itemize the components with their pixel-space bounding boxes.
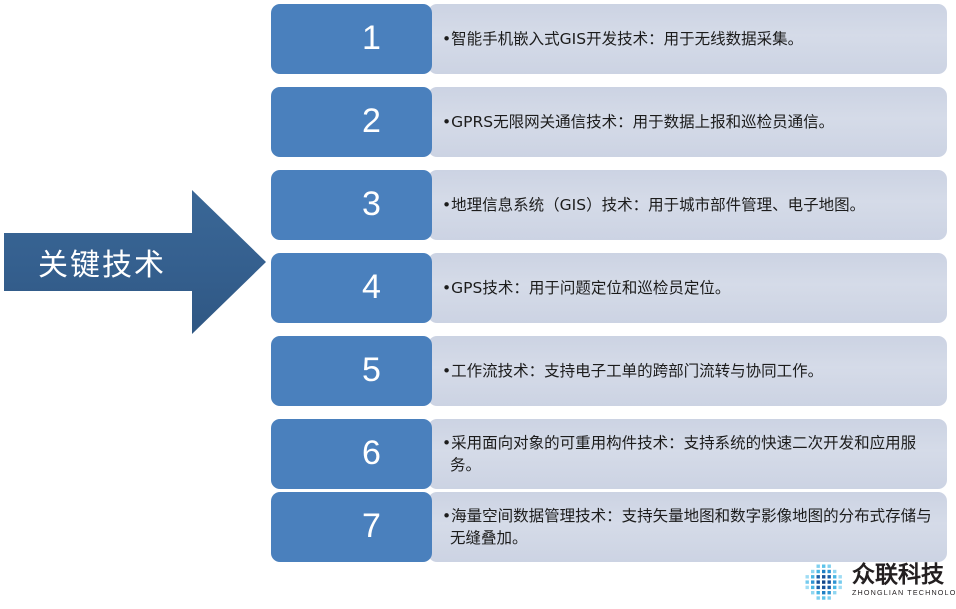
item-number: 4: [362, 270, 381, 304]
item-number: 3: [362, 187, 381, 221]
item-text: •GPS技术：用于问题定位和巡检员定位。: [428, 277, 740, 299]
item-number-badge: 7: [271, 492, 432, 562]
item-number-badge: 5: [271, 336, 432, 406]
arrow-label: 关键技术: [4, 188, 200, 336]
item-text: •GPRS无限网关通信技术：用于数据上报和巡检员通信。: [428, 111, 844, 133]
item-text: •智能手机嵌入式GIS开发技术：用于无线数据采集。: [428, 28, 813, 50]
item-number: 6: [362, 436, 381, 470]
logo-wordmark: 众联科技 ZHONGLIAN TECHNOLOGY: [852, 562, 948, 604]
item-text: •工作流技术：支持电子工单的跨部门流转与协同工作。: [428, 360, 833, 382]
item-text-panel: •采用面向对象的可重用构件技术：支持系统的快速二次开发和应用服务。: [428, 419, 947, 489]
item-text-panel: •GPRS无限网关通信技术：用于数据上报和巡检员通信。: [428, 87, 947, 157]
list-item[interactable]: 4 •GPS技术：用于问题定位和巡检员定位。: [271, 253, 947, 323]
item-number: 1: [362, 21, 381, 55]
item-number: 5: [362, 353, 381, 387]
item-text-panel: •工作流技术：支持电子工单的跨部门流转与协同工作。: [428, 336, 947, 406]
numbered-list: 1 •智能手机嵌入式GIS开发技术：用于无线数据采集。 2 •GPRS无限网关通…: [271, 4, 947, 566]
item-text-panel: •GPS技术：用于问题定位和巡检员定位。: [428, 253, 947, 323]
item-text: •地理信息系统（GIS）技术：用于城市部件管理、电子地图。: [428, 194, 875, 216]
item-text-panel: •海量空间数据管理技术：支持矢量地图和数字影像地图的分布式存储与无缝叠加。: [428, 492, 947, 562]
item-text-panel: •地理信息系统（GIS）技术：用于城市部件管理、电子地图。: [428, 170, 947, 240]
slide-canvas: 关键技术 1 •智能手机嵌入式GIS开发技术：用于无线数据采集。 2 •GPRS…: [0, 0, 956, 609]
list-item[interactable]: 5 •工作流技术：支持电子工单的跨部门流转与协同工作。: [271, 336, 947, 406]
item-number-badge: 6: [271, 419, 432, 489]
item-number-badge: 4: [271, 253, 432, 323]
item-text-panel: •智能手机嵌入式GIS开发技术：用于无线数据采集。: [428, 4, 947, 74]
item-text: •海量空间数据管理技术：支持矢量地图和数字影像地图的分布式存储与无缝叠加。: [428, 505, 947, 550]
logo-name-en: ZHONGLIAN TECHNOLOGY: [852, 588, 948, 598]
item-number-badge: 1: [271, 4, 432, 74]
item-text: •采用面向对象的可重用构件技术：支持系统的快速二次开发和应用服务。: [428, 432, 947, 477]
list-item[interactable]: 7 •海量空间数据管理技术：支持矢量地图和数字影像地图的分布式存储与无缝叠加。: [271, 492, 947, 562]
dotted-globe-icon: [802, 563, 844, 603]
list-item[interactable]: 3 •地理信息系统（GIS）技术：用于城市部件管理、电子地图。: [271, 170, 947, 240]
key-technology-arrow-callout[interactable]: 关键技术: [4, 188, 266, 336]
company-logo: 众联科技 ZHONGLIAN TECHNOLOGY: [802, 561, 948, 605]
item-number-badge: 3: [271, 170, 432, 240]
logo-name-cn: 众联科技: [852, 562, 948, 588]
item-number: 2: [362, 104, 381, 138]
list-item[interactable]: 1 •智能手机嵌入式GIS开发技术：用于无线数据采集。: [271, 4, 947, 74]
list-item[interactable]: 2 •GPRS无限网关通信技术：用于数据上报和巡检员通信。: [271, 87, 947, 157]
item-number-badge: 2: [271, 87, 432, 157]
item-number: 7: [362, 509, 381, 543]
list-item[interactable]: 6 •采用面向对象的可重用构件技术：支持系统的快速二次开发和应用服务。: [271, 419, 947, 489]
